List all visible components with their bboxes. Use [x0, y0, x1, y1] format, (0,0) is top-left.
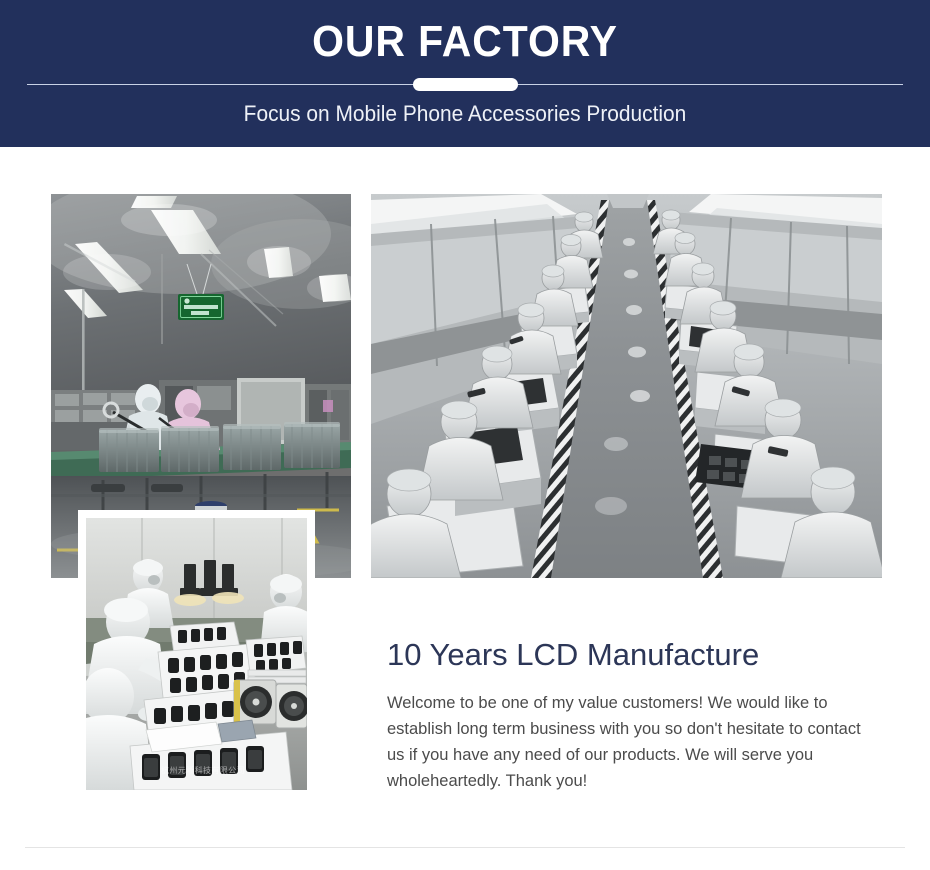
factory-intro-text-block: 10 Years LCD Manufacture Welcome to be o… — [387, 634, 877, 794]
footer-divider — [25, 847, 905, 848]
assembly-line-photo — [371, 194, 882, 578]
screen-sorting-photo: 杭州元晰科技有限公司 — [86, 518, 307, 790]
assembly-line-photo-art — [371, 194, 882, 578]
screen-sorting-photo-frame: 杭州元晰科技有限公司 — [78, 510, 315, 798]
banner-divider-knob — [413, 78, 518, 91]
screen-sorting-photo-art — [86, 518, 307, 790]
page-header-banner: OUR FACTORY Focus on Mobile Phone Access… — [0, 0, 930, 147]
intro-heading: 10 Years LCD Manufacture — [387, 634, 877, 676]
intro-paragraph: Welcome to be one of my value customers!… — [387, 690, 877, 794]
page-subtitle: Focus on Mobile Phone Accessories Produc… — [23, 99, 907, 129]
page-title: OUR FACTORY — [33, 14, 898, 70]
